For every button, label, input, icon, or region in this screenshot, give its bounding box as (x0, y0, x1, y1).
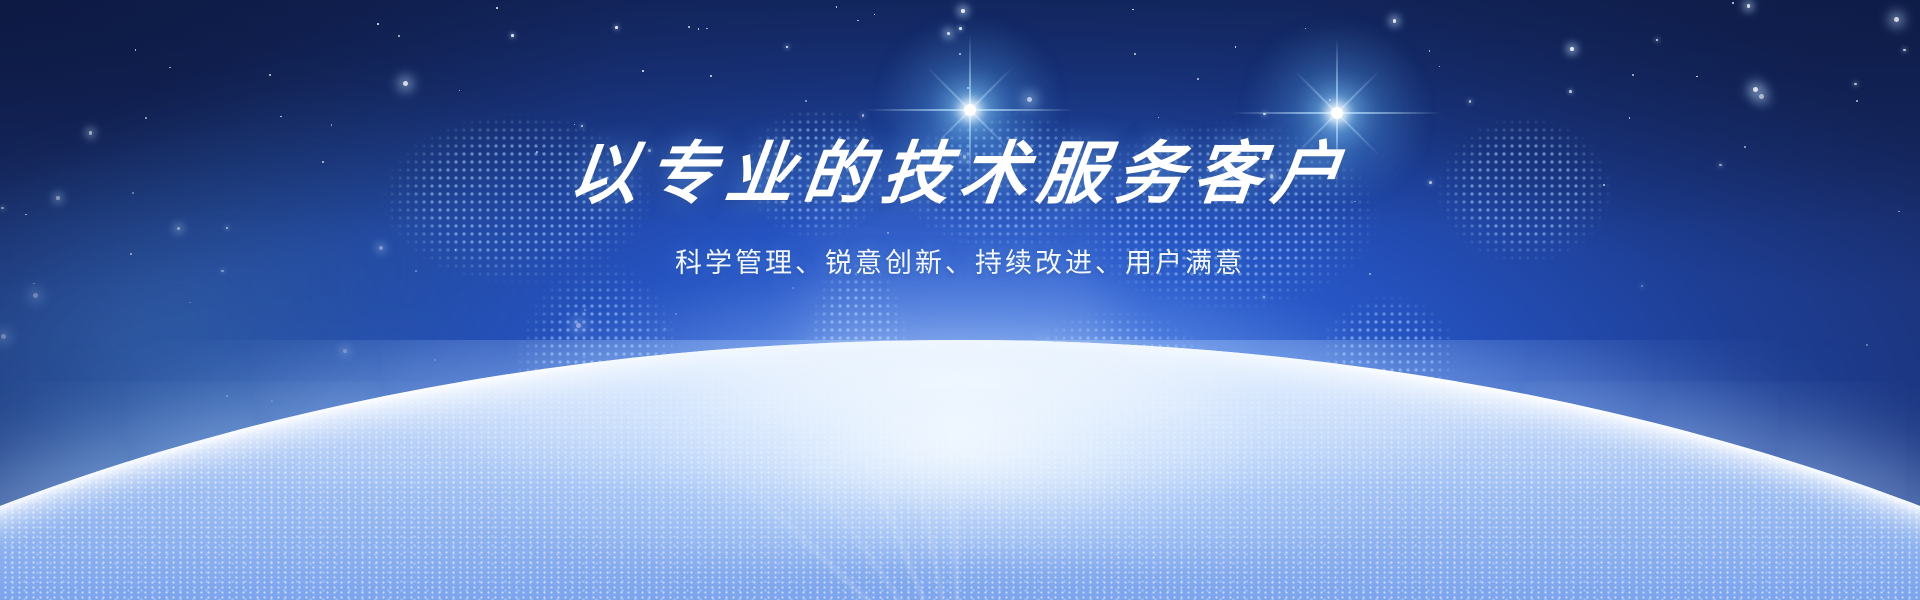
flare-ray-horizontal (1232, 112, 1442, 114)
star-dot (1475, 439, 1478, 442)
light-streaks (210, 360, 1710, 600)
star-dot (1027, 97, 1032, 102)
star-dot (1037, 447, 1039, 449)
star-dot (874, 14, 876, 16)
city-lights (0, 340, 1920, 600)
star-dot (145, 117, 147, 119)
star-dot (1132, 9, 1134, 11)
star-dot (1250, 357, 1253, 360)
star-dot (304, 430, 307, 433)
star-dot (226, 395, 228, 397)
star-dot (1263, 296, 1266, 299)
star-dot (280, 116, 282, 118)
star-dot (625, 462, 627, 464)
atmosphere-rim (0, 340, 1920, 600)
star-dot (33, 293, 38, 298)
star-dot (1747, 4, 1751, 8)
star-dot (961, 9, 965, 13)
star-dot (1158, 117, 1160, 119)
flare-ray-horizontal (865, 109, 1075, 111)
star-dot (269, 74, 271, 76)
star-dot (271, 400, 273, 402)
star-dot (1263, 113, 1266, 116)
star-dot (642, 70, 644, 72)
star-dot (615, 26, 618, 29)
top-vignette (0, 0, 1920, 600)
star-dot (1329, 99, 1331, 101)
star-dot (1629, 117, 1631, 119)
star-dot (706, 28, 708, 30)
star-dot (1903, 49, 1906, 52)
star-dot (857, 20, 859, 22)
banner-headline: 以专业的技术服务客户 (0, 138, 1920, 211)
star-dot (805, 100, 807, 102)
star-dot (1041, 343, 1046, 348)
star-dot (1429, 50, 1431, 52)
star-dot (1759, 94, 1764, 99)
star-dot (135, 49, 137, 51)
star-dot (959, 53, 961, 55)
star-dot (1, 334, 6, 339)
planet-surface (0, 340, 1920, 600)
star-dot (1134, 53, 1136, 55)
star-dot (792, 287, 794, 289)
star-dot (1894, 17, 1899, 22)
star-dot (1469, 100, 1472, 103)
star-dot (189, 302, 191, 304)
star-dot (458, 394, 460, 396)
star-dot (581, 125, 584, 128)
star-dot (403, 81, 408, 86)
flare-core (964, 104, 976, 116)
star-dot (861, 353, 866, 358)
star-dot (463, 445, 466, 448)
star-dot (89, 131, 93, 135)
star-dot (967, 87, 969, 89)
star-dot (1569, 90, 1572, 93)
star-dot (1854, 83, 1857, 86)
star-dot (664, 328, 667, 331)
star-dot (377, 23, 379, 25)
star-dot (1641, 285, 1644, 288)
star-dot (169, 67, 171, 69)
star-dot (836, 6, 838, 8)
star-dot (511, 34, 514, 37)
star-dot (1366, 451, 1369, 454)
star-dot (584, 309, 587, 312)
banner-subheadline: 科学管理、锐意创新、持续改进、用户满意 (0, 241, 1920, 280)
flare-core (1331, 107, 1343, 119)
star-dot (33, 283, 35, 285)
star-dot (710, 75, 712, 77)
star-dot (698, 28, 700, 30)
earth-horizon (0, 340, 1920, 600)
star-dot (496, 7, 498, 9)
star-dot (862, 114, 865, 117)
star-dot (1656, 39, 1659, 42)
horizon-glow (460, 260, 1460, 560)
star-dot (1439, 66, 1441, 68)
hero-banner: 以专业的技术服务客户 科学管理、锐意创新、持续改进、用户满意 (0, 0, 1920, 600)
star-dot (959, 27, 962, 30)
star-dot (1570, 47, 1574, 51)
star-dot (1393, 19, 1397, 23)
star-dot (1732, 2, 1734, 4)
star-dot (1856, 100, 1858, 102)
star-dot (459, 90, 461, 92)
star-dot (1696, 76, 1698, 78)
banner-content: 以专业的技术服务客户 科学管理、锐意创新、持续改进、用户满意 (0, 138, 1920, 280)
star-dot (574, 124, 576, 126)
star-dot (1632, 74, 1634, 76)
star-dot (675, 313, 677, 315)
nebula-haze-lower (0, 269, 564, 600)
star-dot (1305, 28, 1307, 30)
star-dot (947, 32, 951, 36)
star-dot (1197, 78, 1199, 80)
star-dot (434, 359, 436, 361)
star-dot (576, 323, 581, 328)
star-dot (688, 26, 690, 28)
star-dot (398, 35, 400, 37)
star-dot (1866, 344, 1868, 346)
star-dot (343, 349, 347, 353)
star-dot (331, 124, 333, 126)
star-dot (183, 452, 185, 454)
nebula-haze-left (0, 13, 646, 600)
star-dot (583, 356, 585, 358)
star-dot (1235, 46, 1237, 48)
star-dot (1136, 459, 1140, 463)
star-field (0, 0, 1920, 600)
star-dot (313, 439, 315, 441)
star-dot (1163, 418, 1165, 420)
star-dot (1753, 87, 1758, 92)
star-dot (786, 46, 789, 49)
